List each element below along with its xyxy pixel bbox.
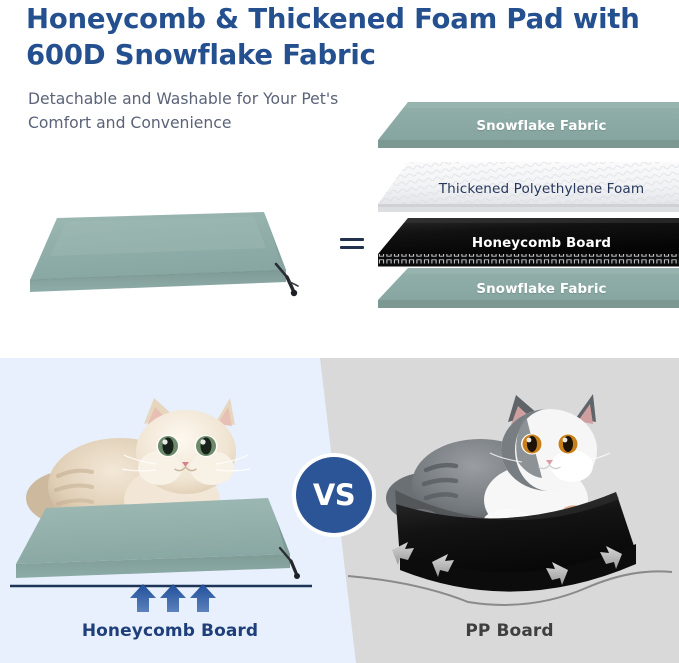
equals-bar-top bbox=[340, 238, 364, 241]
pet-pad-illustration bbox=[14, 198, 334, 310]
layer-label: Snowflake Fabric bbox=[378, 119, 679, 134]
layer-label: Honeycomb Board bbox=[378, 236, 679, 251]
honeycomb-panel-caption: Honeycomb Board bbox=[0, 621, 340, 641]
equals-bar-bottom bbox=[340, 246, 364, 249]
layer-snowflake-fabric-top: Snowflake Fabric bbox=[378, 100, 679, 152]
layer-stack-diagram: Snowflake Fabric bbox=[378, 100, 679, 308]
panel-pp-board: PP Board bbox=[340, 358, 679, 663]
pp-board-scene bbox=[340, 358, 679, 618]
layer-snowflake-fabric-bottom: Snowflake Fabric bbox=[378, 268, 679, 310]
product-infographic: Honeycomb & Thickened Foam Pad with 600D… bbox=[0, 0, 679, 663]
equals-sign bbox=[340, 236, 364, 252]
layer-thickened-polyethylene-foam: Thickened Polyethylene Foam bbox=[378, 162, 679, 216]
layer-honeycomb-board: Honeycomb Board bbox=[378, 218, 679, 268]
panel-honeycomb: Honeycomb Board bbox=[0, 358, 340, 663]
support-arrows-up bbox=[130, 584, 216, 612]
vs-label: VS bbox=[313, 481, 355, 510]
honeycomb-pad bbox=[16, 498, 300, 579]
honeycomb-scene bbox=[0, 358, 340, 618]
top-section: Honeycomb & Thickened Foam Pad with 600D… bbox=[0, 0, 679, 358]
layer-label: Thickened Polyethylene Foam bbox=[378, 181, 679, 197]
vs-badge: VS bbox=[296, 457, 372, 533]
pp-board-panel-caption: PP Board bbox=[340, 621, 679, 641]
layer-label: Snowflake Fabric bbox=[378, 282, 679, 297]
page-subtitle: Detachable and Washable for Your Pet's C… bbox=[28, 88, 378, 135]
page-title: Honeycomb & Thickened Foam Pad with 600D… bbox=[26, 2, 666, 74]
